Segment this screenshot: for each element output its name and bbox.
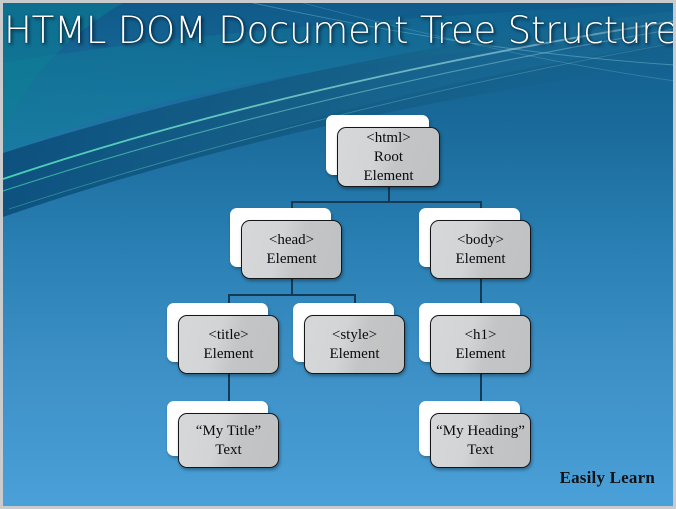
node-title-text-tag: “My Title”	[196, 422, 261, 441]
node-html-tag: <html>	[366, 129, 410, 148]
node-card-html[interactable]: <html>RootElement	[337, 127, 440, 187]
tree-node-style[interactable]: <style>Element	[293, 303, 405, 374]
node-card-style[interactable]: <style>Element	[304, 315, 405, 374]
node-title-label-1: Element	[204, 345, 254, 364]
tree-node-h1[interactable]: <h1>Element	[419, 303, 531, 374]
node-title-text-label-1: Text	[215, 441, 241, 460]
node-heading-text-tag: “My Heading”	[436, 422, 525, 441]
slide-canvas: HTML DOM Document Tree Structure <html>R…	[0, 0, 676, 509]
node-h1-label-1: Element	[456, 345, 506, 364]
node-card-body[interactable]: <body>Element	[430, 220, 531, 279]
tree-node-title[interactable]: <title>Element	[167, 303, 279, 374]
node-card-title[interactable]: <title>Element	[178, 315, 279, 374]
node-html-label-2: Element	[364, 167, 414, 186]
node-html-label-1: Root	[374, 148, 403, 167]
node-head-label-1: Element	[267, 250, 317, 269]
tree-node-heading-text[interactable]: “My Heading”Text	[419, 401, 531, 468]
node-heading-text-label-1: Text	[467, 441, 493, 460]
node-body-tag: <body>	[457, 231, 504, 250]
connector-bus-html	[291, 201, 482, 203]
tree-node-head[interactable]: <head>Element	[230, 208, 342, 279]
tree-node-title-text[interactable]: “My Title”Text	[167, 401, 279, 468]
connector-stem-html	[388, 187, 390, 201]
node-style-tag: <style>	[332, 326, 377, 345]
node-style-label-1: Element	[330, 345, 380, 364]
node-card-head[interactable]: <head>Element	[241, 220, 342, 279]
tree-node-body[interactable]: <body>Element	[419, 208, 531, 279]
connector-stem-head	[291, 279, 293, 294]
node-card-h1[interactable]: <h1>Element	[430, 315, 531, 374]
tree-node-html[interactable]: <html>RootElement	[326, 115, 440, 187]
watermark-label: Easily Learn	[560, 468, 655, 488]
connector-bus-head	[228, 294, 356, 296]
slide-title: HTML DOM Document Tree Structure	[3, 5, 676, 57]
node-card-heading-text[interactable]: “My Heading”Text	[430, 413, 531, 468]
node-h1-tag: <h1>	[465, 326, 497, 345]
node-head-tag: <head>	[269, 231, 314, 250]
node-title-tag: <title>	[208, 326, 248, 345]
node-body-label-1: Element	[456, 250, 506, 269]
node-card-title-text[interactable]: “My Title”Text	[178, 413, 279, 468]
